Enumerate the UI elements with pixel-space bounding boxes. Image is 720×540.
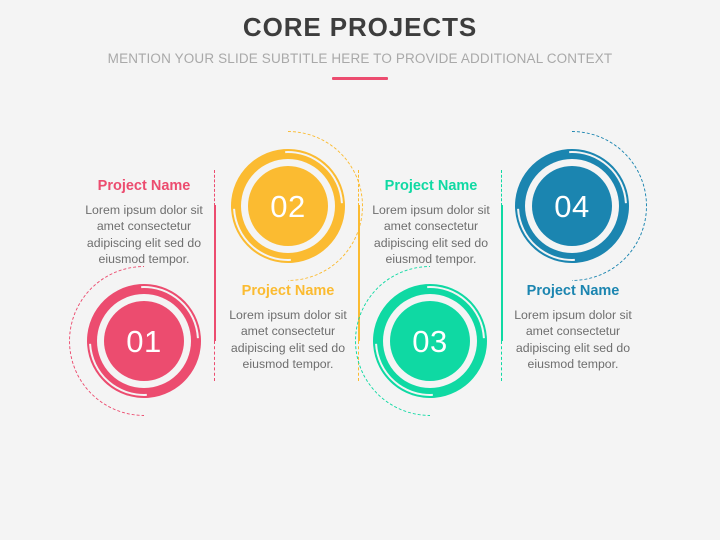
project-description-03: Lorem ipsum dolor sit amet consectetur a… [361,202,501,268]
project-description-02: Lorem ipsum dolor sit amet consectetur a… [218,307,358,373]
dashed-rail-01-top [214,170,215,206]
project-name-01: Project Name [74,177,214,196]
slide-canvas: CORE PROJECTS MENTION YOUR SLIDE SUBTITL… [0,0,720,540]
circle-03[interactable]: 03 [372,283,488,399]
textblock-04: Project Name Lorem ipsum dolor sit amet … [503,282,643,373]
project-name-03: Project Name [361,177,501,196]
project-name-02: Project Name [218,282,358,301]
ring-thin-notch-bottom-03 [352,263,507,418]
infographic-stage: 01 Project Name Lorem ipsum dolor sit am… [0,0,720,540]
circle-01[interactable]: 01 [86,283,202,399]
textblock-01: Project Name Lorem ipsum dolor sit amet … [74,177,214,268]
connector-line-01-02 [214,205,216,341]
project-description-01: Lorem ipsum dolor sit amet consectetur a… [74,202,214,268]
dashed-rail-01-bottom [214,341,215,381]
textblock-02: Project Name Lorem ipsum dolor sit amet … [218,282,358,373]
dashed-rail-03-top [501,170,502,206]
circle-02[interactable]: 02 [230,148,346,264]
dashed-rail-03-bottom [501,341,502,381]
ring-thin-notch-bottom-04 [494,128,649,283]
circle-04[interactable]: 04 [514,148,630,264]
project-description-04: Lorem ipsum dolor sit amet consectetur a… [503,307,643,373]
project-name-04: Project Name [503,282,643,301]
ring-thin-notch-bottom-01 [66,263,221,418]
textblock-03: Project Name Lorem ipsum dolor sit amet … [361,177,501,268]
ring-thin-notch-bottom-02 [210,128,365,283]
